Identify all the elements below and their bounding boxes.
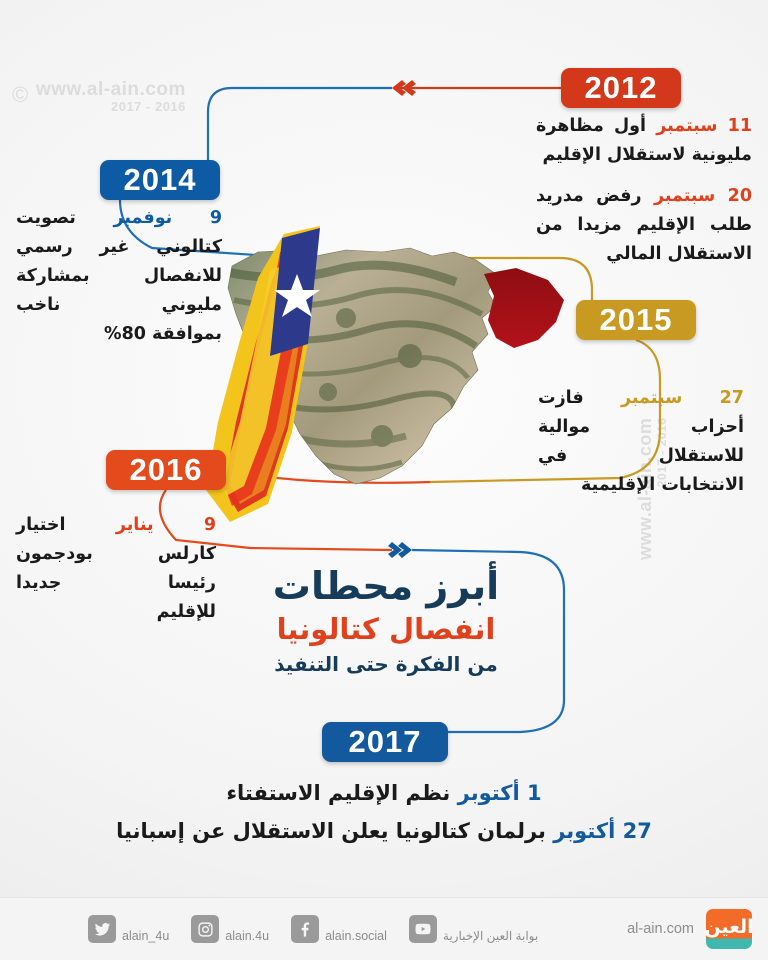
event-text: الاستقلال المالي (606, 244, 752, 264)
event-line: أحزاب موالية (538, 414, 744, 441)
event-line: طلب الإقليم مزيدا من (536, 212, 752, 239)
footer-brand: al-ain.com العين (627, 909, 752, 949)
social-links: alain_4u alain.4u alain.social بوابة الع… (88, 915, 560, 943)
event-text: مليوني ناخب (16, 295, 222, 315)
footer-bar: alain_4u alain.4u alain.social بوابة الع… (0, 897, 768, 960)
twitter-icon[interactable] (88, 915, 116, 943)
map-artwork (196, 222, 574, 552)
social-handle: alain.4u (225, 929, 269, 943)
social-handle: alain_4u (122, 929, 169, 943)
event-text: كتالوني غير رسمي (16, 237, 222, 257)
event-text: للانفصال بمشاركة (16, 266, 222, 286)
event-date: 20 سبتمبر (654, 186, 752, 206)
event-line: 27 أكتوبر برلمان كتالونيا يعلن الاستقلال… (0, 816, 768, 846)
timeline-text-2012: 11 سبتمبر أول مظاهرة مليونية لاستقلال ال… (536, 113, 752, 270)
connector-to-2014 (208, 88, 392, 160)
event-text: نظم الإقليم الاستفتاء (226, 781, 457, 805)
facebook-icon[interactable] (291, 915, 319, 943)
event-line: 1 أكتوبر نظم الإقليم الاستفتاء (0, 778, 768, 808)
event-date: 27 سبتمبر (621, 388, 744, 408)
event-line: مليوني ناخب (16, 292, 222, 319)
event-text: مليونية لاستقلال الإقليم (542, 145, 752, 165)
event-line: الاستقلال المالي (536, 241, 752, 268)
al-ain-logo[interactable]: العين (706, 909, 752, 949)
event-line: 9 نوفمبر تصويت (16, 205, 222, 232)
event-line: 9 يناير اختيار (16, 512, 216, 539)
event-line: 11 سبتمبر أول مظاهرة (536, 113, 752, 140)
year-badge-2012: 2012 (561, 68, 681, 108)
event-text: فازت (538, 388, 621, 408)
timeline-text-2015: 27 سبتمبر فازت أحزاب موالية للاستقلال في… (538, 385, 744, 501)
page-title: أبرز محطات انفصال كتالونيا من الفكرة حتى… (210, 563, 562, 679)
timeline-text-2017: 1 أكتوبر نظم الإقليم الاستفتاء 27 أكتوبر… (0, 778, 768, 854)
event-line: الانتخابات الإقليمية (538, 472, 744, 499)
event-line: كتالوني غير رسمي (16, 234, 222, 261)
event-line: مليونية لاستقلال الإقليم (536, 142, 752, 169)
event-line: للإقليم (16, 599, 216, 626)
event-line: للاستقلال في (538, 443, 744, 470)
year-badge-2014: 2014 (100, 160, 220, 200)
timeline-text-2014: 9 نوفمبر تصويت كتالوني غير رسمي للانفصال… (16, 205, 222, 350)
social-handle: بوابة العين الإخبارية (443, 929, 538, 943)
event-text: رفض مدريد (536, 186, 654, 206)
title-line-3: من الفكرة حتى التنفيذ (210, 649, 562, 679)
event-text: للإقليم (157, 602, 216, 622)
social-link-facebook[interactable]: alain.social (291, 915, 387, 943)
title-line-2: انفصال كتالونيا (210, 609, 562, 649)
social-link-instagram[interactable]: alain.4u (191, 915, 269, 943)
event-date: 9 نوفمبر (113, 208, 222, 228)
event-text: اختيار (16, 515, 116, 535)
event-date: 27 أكتوبر (553, 819, 652, 843)
event-line: بموافقة 80% (16, 321, 222, 348)
timeline-text-2016: 9 يناير اختيار كارلس بودجمون رئيسا جديدا… (16, 512, 216, 628)
social-link-youtube[interactable]: بوابة العين الإخبارية (409, 915, 538, 943)
catalonia-highlight (484, 268, 564, 348)
event-text: أول مظاهرة (536, 116, 656, 136)
event-line: 20 سبتمبر رفض مدريد (536, 183, 752, 210)
instagram-icon[interactable] (191, 915, 219, 943)
event-date: 11 سبتمبر (656, 116, 752, 136)
social-link-twitter[interactable]: alain_4u (88, 915, 169, 943)
event-date: 9 يناير (116, 515, 216, 535)
year-badge-2016: 2016 (106, 450, 226, 490)
event-text: بموافقة 80% (104, 324, 222, 344)
event-text: تصويت (16, 208, 113, 228)
social-handle: alain.social (325, 929, 387, 943)
event-text: رئيسا جديدا (16, 573, 216, 593)
year-badge-2015: 2015 (576, 300, 696, 340)
year-badge-2017: 2017 (322, 722, 448, 762)
youtube-icon[interactable] (409, 915, 437, 943)
event-date: 1 أكتوبر (458, 781, 542, 805)
event-line: رئيسا جديدا (16, 570, 216, 597)
event-line: للانفصال بمشاركة (16, 263, 222, 290)
event-text: برلمان كتالونيا يعلن الاستقلال عن إسباني… (116, 819, 553, 843)
event-text: كارلس بودجمون (16, 544, 216, 564)
event-text: الانتخابات الإقليمية (581, 475, 744, 495)
event-line: 27 سبتمبر فازت (538, 385, 744, 412)
event-text: أحزاب موالية (538, 417, 744, 437)
event-text: طلب الإقليم مزيدا من (536, 215, 752, 235)
title-line-1: أبرز محطات (210, 563, 562, 609)
infographic-canvas: © www.al-ain.com 2016 - 2017 www.al-ain.… (0, 0, 768, 960)
event-line: كارلس بودجمون (16, 541, 216, 568)
footer-site-url[interactable]: al-ain.com (627, 921, 694, 937)
event-text: للاستقلال في (538, 446, 744, 466)
